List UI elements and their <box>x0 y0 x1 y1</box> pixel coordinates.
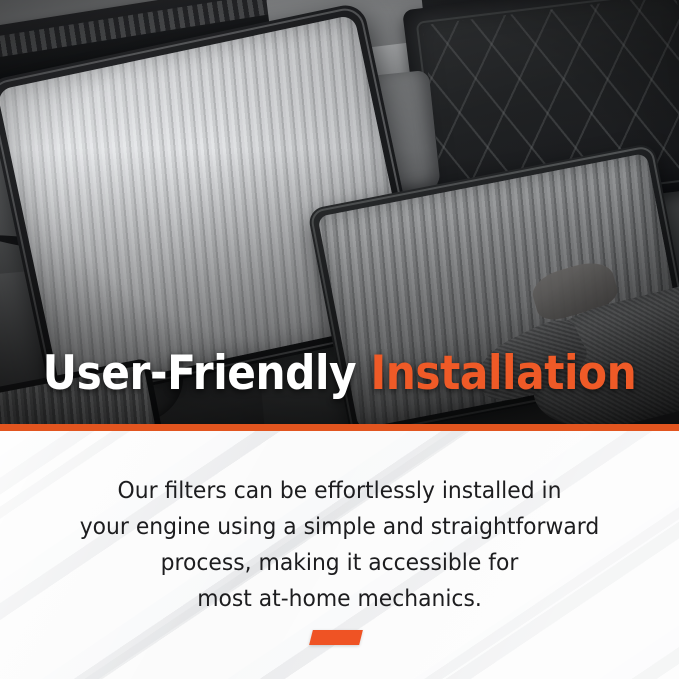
accent-bar <box>309 630 363 645</box>
headline-part1: User-Friendly <box>43 346 356 401</box>
description-text: Our filters can be effortlessly installe… <box>24 472 655 616</box>
description-line-2: your engine using a simple and straightf… <box>24 508 655 544</box>
headline: User-Friendly Installation <box>34 350 645 397</box>
headline-part2: Installation <box>370 346 636 401</box>
orange-divider <box>0 424 679 431</box>
hero-photo: User-Friendly Installation <box>0 0 679 425</box>
product-feature-card: User-Friendly Installation Our filters c… <box>0 0 679 679</box>
description-line-1: Our filters can be effortlessly installe… <box>24 472 655 508</box>
description-line-3: process, making it accessible for <box>24 544 655 580</box>
description-line-4: most at-home mechanics. <box>24 580 655 616</box>
